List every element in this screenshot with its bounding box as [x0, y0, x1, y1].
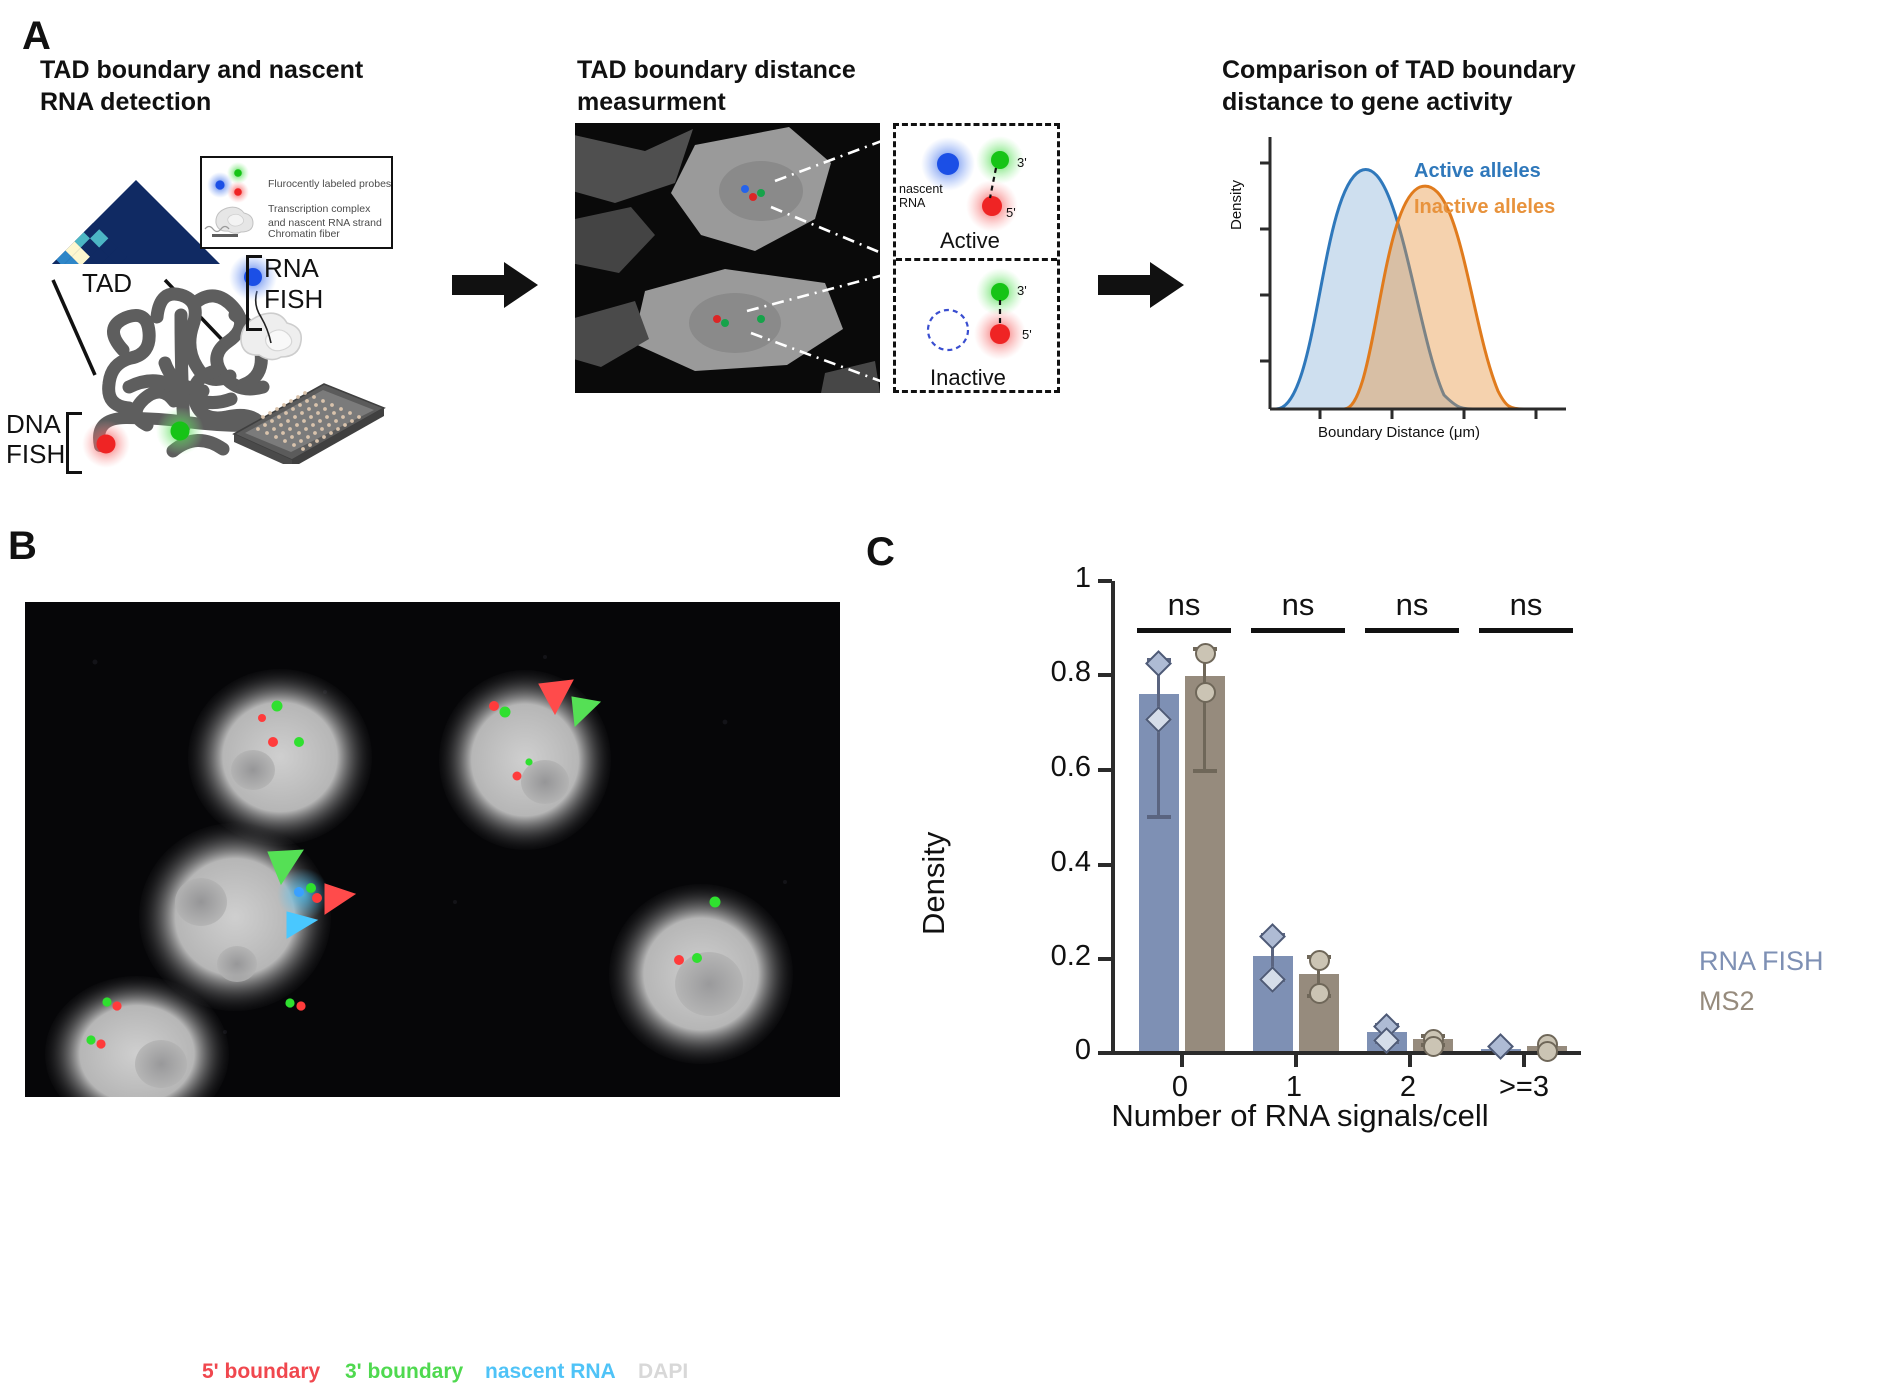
- panel-b-letter: B: [8, 524, 37, 569]
- panel-a-col3-title: Comparison of TAD boundary distance to g…: [1222, 54, 1582, 118]
- datapoint-rnafish-0-a: [1145, 650, 1172, 677]
- datapoint-ms2-3-b: [1537, 1041, 1558, 1062]
- chart-legend-ms2: MS2: [1699, 986, 1755, 1017]
- chart-x-axis-title: Number of RNA signals/cell: [1045, 1098, 1555, 1134]
- panel-b-caption-nascent-rna: nascent RNA: [485, 1360, 616, 1384]
- ns-line-0: [1137, 628, 1231, 633]
- datapoint-ms2-1-b: [1309, 983, 1330, 1004]
- xtick-3: [1522, 1053, 1526, 1067]
- chart-y-axis-title: Density: [916, 832, 952, 935]
- ytick-label-0.4: 0.4: [1015, 846, 1091, 879]
- errorbar-ms2-0: [1203, 647, 1206, 772]
- xtick-2: [1408, 1053, 1412, 1067]
- active-3prime-label: 3': [1017, 155, 1027, 170]
- datapoint-rnafish-3-a: [1487, 1033, 1514, 1060]
- xtick-0: [1180, 1053, 1184, 1067]
- datapoint-ms2-2-b: [1423, 1036, 1444, 1057]
- arrow-right-1-icon: [452, 262, 540, 308]
- dna-fish-label-line2: FISH: [6, 440, 65, 469]
- rna-fish-label-line2: FISH: [264, 285, 323, 314]
- well-plate-icon: [228, 378, 388, 464]
- errcap-rnafish-0-bottom: [1147, 815, 1171, 819]
- ytick-0.4: [1098, 863, 1112, 867]
- inactive-5prime-label: 5': [1022, 327, 1032, 342]
- chromatin-fiber-icon: [212, 234, 238, 237]
- panel-c-letter: C: [866, 530, 895, 575]
- ytick-0.8: [1098, 673, 1112, 677]
- legend-complex-line1: Transcription complex: [268, 203, 370, 216]
- panel-b-caption-3prime: 3' boundary: [345, 1360, 463, 1384]
- ytick-label-1: 1: [1015, 562, 1091, 595]
- datapoint-ms2-1-a: [1309, 950, 1330, 971]
- ytick-label-0.2: 0.2: [1015, 940, 1091, 973]
- panel-a-col1-title: TAD boundary and nascent RNA detection: [40, 54, 390, 118]
- scale-bar: [1767, 1365, 1877, 1372]
- datapoint-rnafish-1-a: [1259, 923, 1286, 950]
- ytick-label-0.8: 0.8: [1015, 656, 1091, 689]
- rna-fish-label-line1: RNA: [264, 254, 319, 283]
- chart-y-axis: [1111, 581, 1115, 1055]
- inactive-allele-diagram: [896, 268, 1057, 378]
- probe-dots-icon: [206, 162, 262, 206]
- ns-label-0: ns: [1137, 587, 1231, 623]
- inset-divider: [896, 258, 1057, 261]
- errorbar-rnafish-0: [1157, 658, 1160, 818]
- datapoint-ms2-0-b: [1195, 682, 1216, 703]
- panel-b-micrograph: [25, 602, 840, 1097]
- ytick-1: [1098, 579, 1112, 583]
- fish-micrograph-svg: [25, 602, 840, 1097]
- xtick-1: [1294, 1053, 1298, 1067]
- inactive-3prime-label: 3': [1017, 283, 1027, 298]
- panel-b-caption-5prime: 5' boundary: [202, 1360, 320, 1384]
- ytick-0.6: [1098, 768, 1112, 772]
- transcription-complex-icon: [203, 204, 265, 234]
- ns-line-2: [1365, 628, 1459, 633]
- legend-fiber-label: Chromatin fiber: [268, 228, 340, 241]
- nascent-rna-label-line1: nascent: [899, 182, 943, 197]
- ytick-0: [1098, 1051, 1112, 1055]
- ns-line-3: [1479, 628, 1573, 633]
- datapoint-ms2-0-a: [1195, 643, 1216, 664]
- inactive-state-label: Inactive: [930, 365, 1006, 391]
- ns-label-1: ns: [1251, 587, 1345, 623]
- chart-legend-rna-fish: RNA FISH: [1699, 946, 1824, 977]
- dna-fish-bracket: [66, 412, 82, 474]
- dna-fish-label-line1: DNA: [6, 410, 61, 439]
- legend-active-alleles: Active alleles: [1414, 160, 1541, 183]
- ytick-label-0: 0: [1015, 1034, 1091, 1067]
- active-state-label: Active: [940, 228, 1000, 254]
- density-plot-xlabel: Boundary Distance (μm): [1318, 424, 1480, 441]
- ns-line-1: [1251, 628, 1345, 633]
- arrow-right-2-icon: [1098, 262, 1186, 308]
- density-plot-ylabel: Density: [1228, 180, 1245, 230]
- cell-micrograph-cartoon: [575, 123, 880, 393]
- ns-label-3: ns: [1479, 587, 1573, 623]
- errcap-ms2-0-bottom: [1193, 769, 1217, 773]
- rna-fish-bracket: [246, 255, 262, 331]
- ytick-label-0.6: 0.6: [1015, 751, 1091, 784]
- panel-a-letter: A: [22, 14, 51, 59]
- active-5prime-label: 5': [1006, 205, 1016, 220]
- nascent-rna-label-line2: RNA: [899, 196, 925, 211]
- ns-label-2: ns: [1365, 587, 1459, 623]
- panel-a-col2-title: TAD boundary distance measurment: [577, 54, 997, 118]
- panel-c-bar-chart: 1 0.8 0.6 0.4 0.2 0 ns 0 ns 1 ns 2: [985, 575, 1605, 1080]
- ytick-0.2: [1098, 957, 1112, 961]
- legend-inactive-alleles: Inactive alleles: [1414, 196, 1555, 219]
- legend-probes-label: Flurocently labeled probes: [268, 178, 391, 191]
- panel-b-caption-dapi: DAPI: [638, 1360, 688, 1384]
